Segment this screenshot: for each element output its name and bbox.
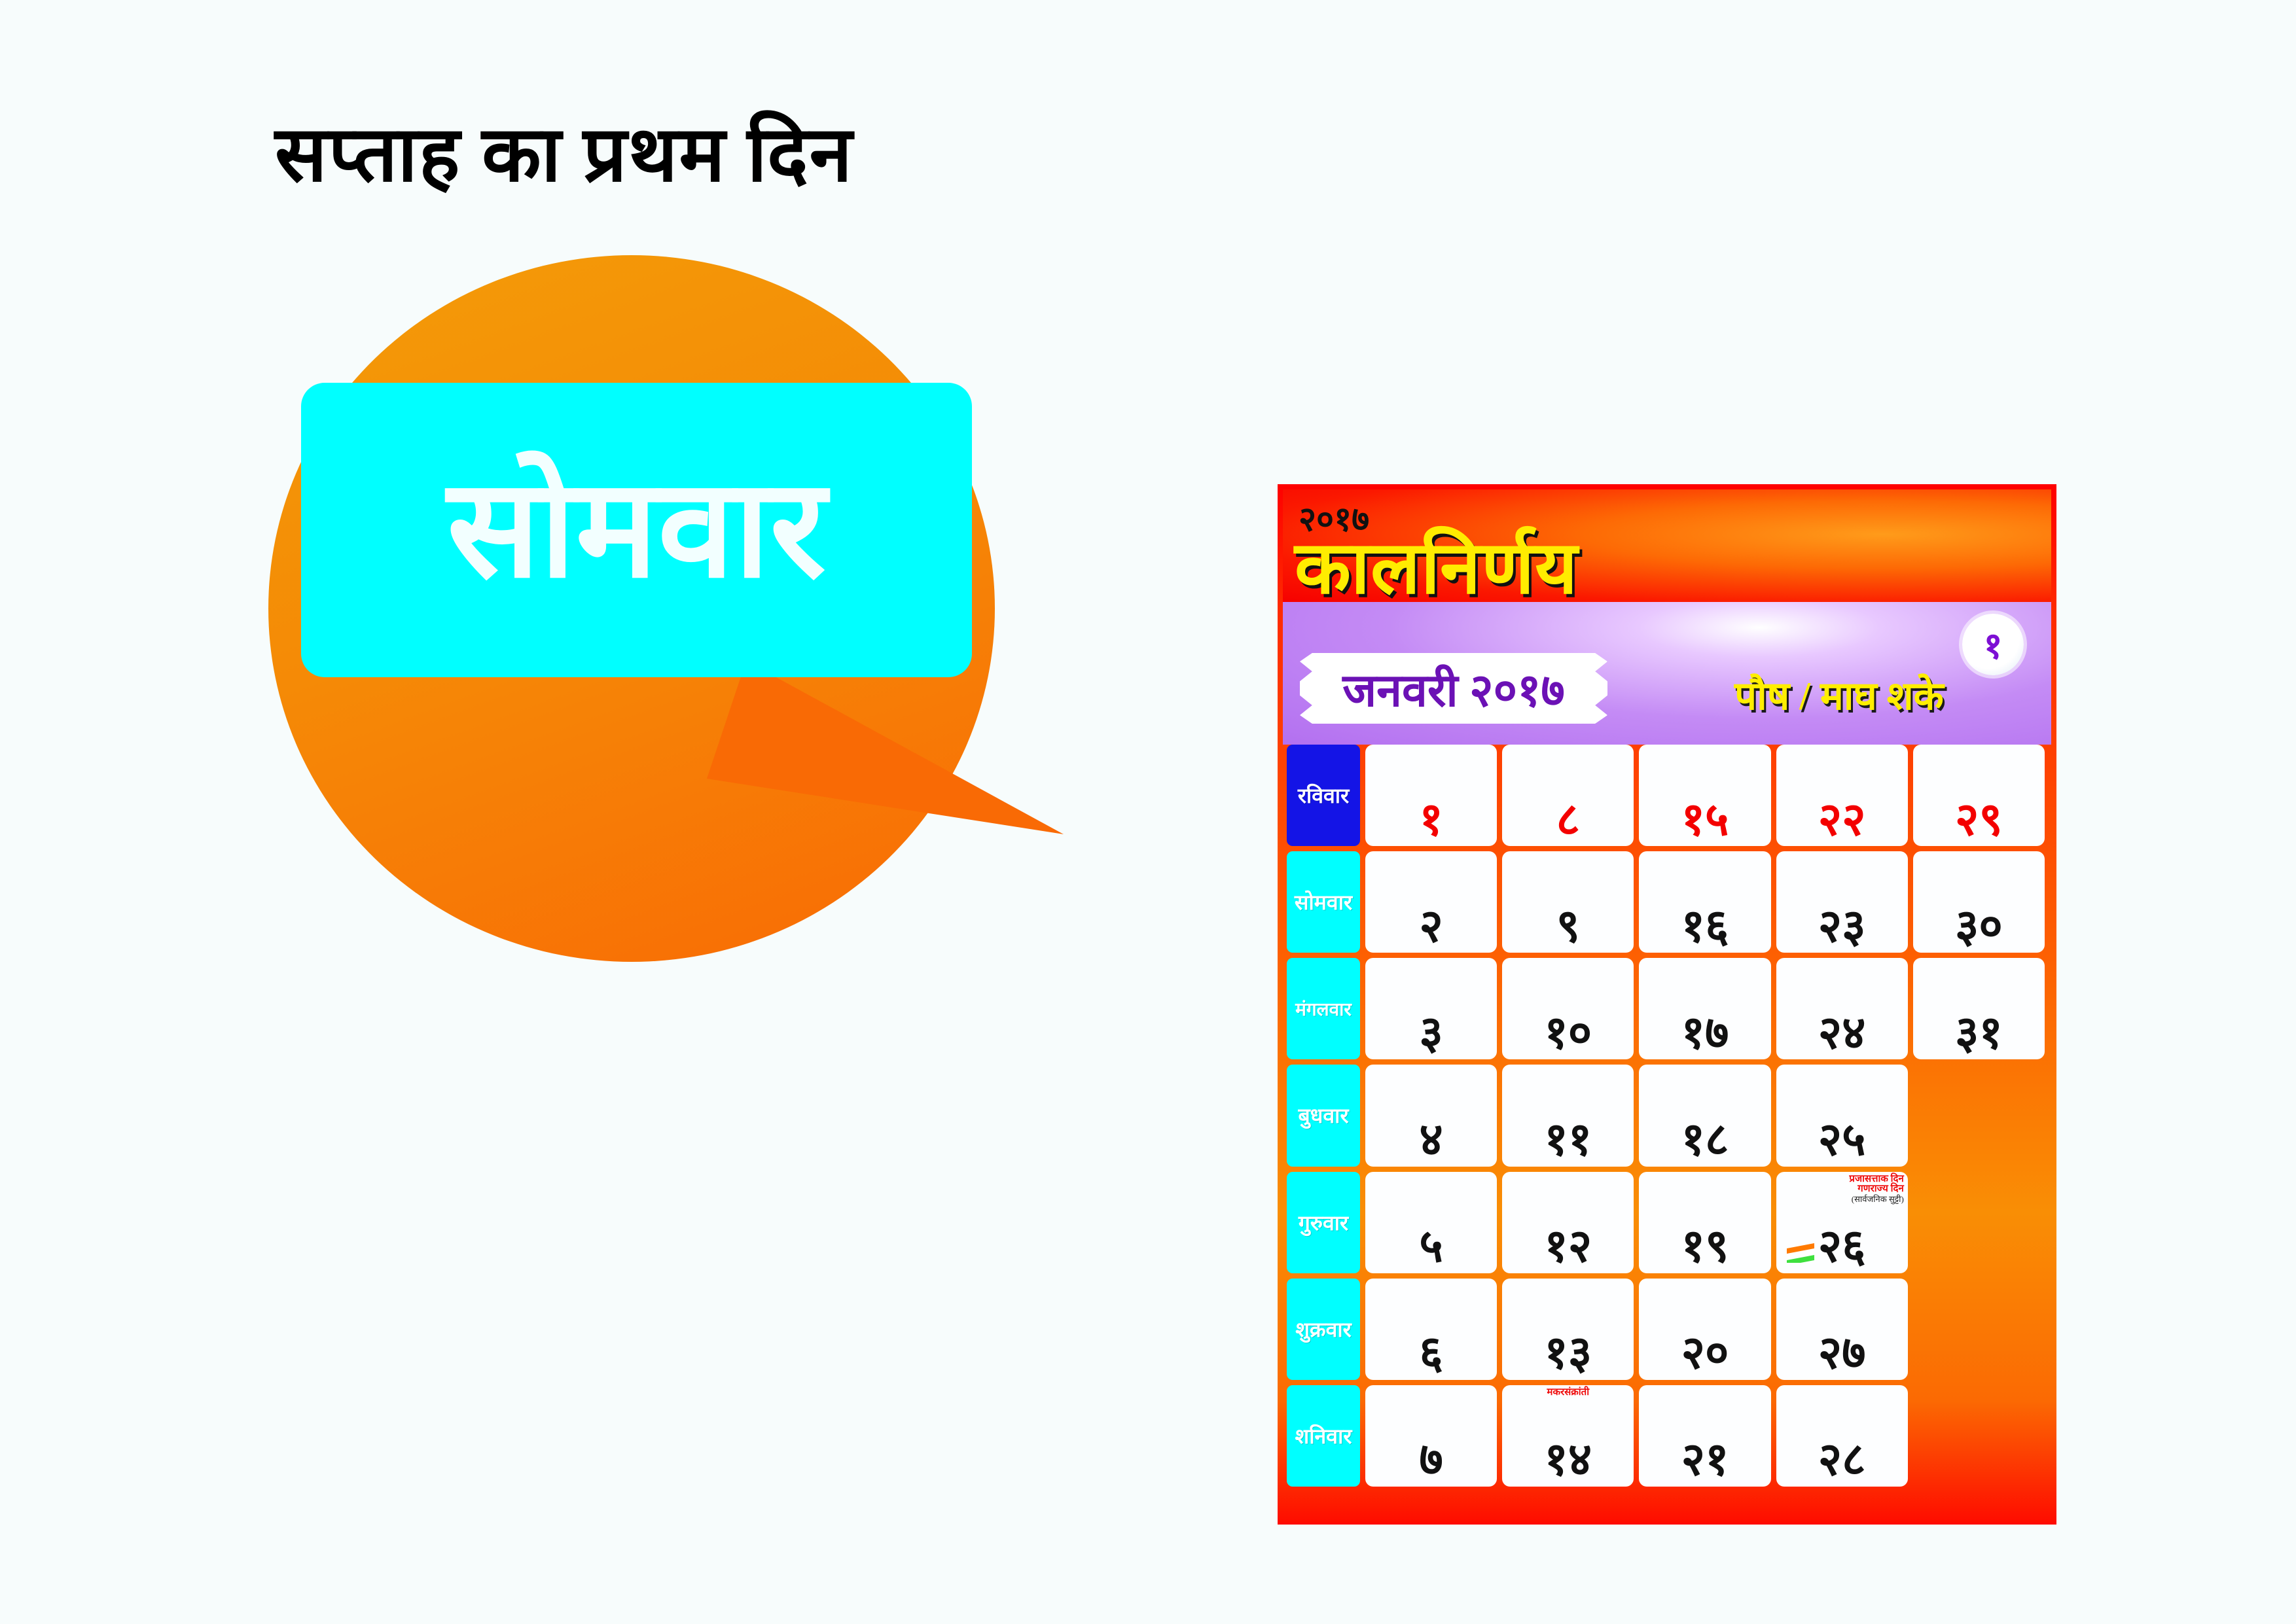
day-label-1: सोमवार — [1287, 851, 1360, 953]
date-cell[interactable]: १७ — [1639, 958, 1770, 1059]
date-cell[interactable]: २ — [1365, 851, 1497, 953]
indian-flag-icon — [1785, 1243, 1817, 1263]
date-cell[interactable]: प्रजासत्ताक दिनगणराज्य दिन(सार्वजनिक सुट… — [1776, 1172, 1908, 1273]
day-label-2: मंगलवार — [1287, 958, 1360, 1059]
date-number: १ — [1419, 799, 1443, 843]
date-cell[interactable]: ८ — [1502, 745, 1634, 846]
shake-era-label: पौष / माघ शके — [1734, 667, 1944, 721]
date-cell[interactable]: ३१ — [1913, 958, 2045, 1059]
date-number: २३ — [1818, 906, 1866, 949]
date-number: ८ — [1556, 799, 1580, 843]
date-note-line-2: गणराज्य दिन — [1780, 1184, 1904, 1195]
date-cell[interactable]: २२ — [1776, 745, 1908, 846]
day-label-6: शनिवार — [1287, 1385, 1360, 1487]
calendar-month-band: जनवरी २०१७ पौष / माघ शके १ — [1283, 602, 2051, 745]
date-cell[interactable]: १९ — [1639, 1172, 1770, 1273]
date-number: १८ — [1681, 1119, 1729, 1163]
date-number: २० — [1681, 1332, 1729, 1376]
date-note-line-1: मकरसंक्रांती — [1506, 1388, 1630, 1398]
calendar-header: २०१७ कालनिर्णय — [1283, 489, 2051, 602]
date-cell[interactable]: २९ — [1913, 745, 2045, 846]
callout-speech-bubble: सोमवार — [249, 242, 1067, 962]
date-cell[interactable]: ५ — [1365, 1172, 1497, 1273]
date-cell[interactable]: २५ — [1776, 1065, 1908, 1166]
date-cell[interactable]: ९ — [1502, 851, 1634, 953]
date-cell[interactable]: २४ — [1776, 958, 1908, 1059]
date-number: ७ — [1419, 1439, 1443, 1483]
date-number: २९ — [1955, 799, 2003, 843]
page-title: सप्ताह का प्रथम दिन — [275, 98, 853, 203]
day-label-0: रविवार — [1287, 745, 1360, 846]
date-cell[interactable]: ७ — [1365, 1385, 1497, 1487]
date-number: ३ — [1419, 1012, 1443, 1056]
date-number: २१ — [1681, 1439, 1729, 1483]
date-number: १६ — [1681, 906, 1729, 949]
kalnirnay-calendar-card: २०१७ कालनिर्णय जनवरी २०१७ पौष / माघ शके … — [1278, 484, 2056, 1525]
date-number: १५ — [1681, 799, 1729, 843]
date-number: २७ — [1818, 1332, 1866, 1376]
date-number: ३१ — [1955, 1012, 2003, 1056]
date-cell[interactable]: १ — [1365, 745, 1497, 846]
date-cell-empty — [1913, 1279, 2045, 1380]
date-cell-empty — [1913, 1385, 2045, 1487]
date-cell[interactable]: १५ — [1639, 745, 1770, 846]
date-note-line-1: प्रजासत्ताक दिन — [1780, 1174, 1904, 1185]
date-cell[interactable]: १३ — [1502, 1279, 1634, 1380]
calendar-grid: रविवार१८१५२२२९सोमवार२९१६२३३०मंगलवार३१०१७… — [1283, 745, 2051, 1487]
date-cell[interactable]: १२ — [1502, 1172, 1634, 1273]
date-cell[interactable]: १० — [1502, 958, 1634, 1059]
date-note-line-3: (सार्वजनिक सुट्टी) — [1780, 1195, 1904, 1204]
day-label-3: बुधवार — [1287, 1065, 1360, 1166]
date-cell[interactable]: ११ — [1502, 1065, 1634, 1166]
date-number: ५ — [1419, 1226, 1443, 1269]
callout-box: सोमवार — [301, 383, 972, 677]
date-cell[interactable]: ६ — [1365, 1279, 1497, 1380]
date-number: २६ — [1818, 1226, 1866, 1269]
date-number: ६ — [1419, 1332, 1443, 1376]
day-label-4: गुरुवार — [1287, 1172, 1360, 1273]
date-number: २८ — [1818, 1439, 1866, 1483]
date-number: १० — [1544, 1012, 1592, 1056]
date-cell[interactable]: १८ — [1639, 1065, 1770, 1166]
date-cell[interactable]: २७ — [1776, 1279, 1908, 1380]
date-number: ४ — [1419, 1119, 1443, 1163]
page-number-value: १ — [1983, 620, 2002, 669]
date-number: २२ — [1818, 799, 1866, 843]
date-number: २ — [1419, 906, 1443, 949]
date-cell[interactable]: ४ — [1365, 1065, 1497, 1166]
date-cell[interactable]: २३ — [1776, 851, 1908, 953]
date-number: १४ — [1544, 1439, 1592, 1483]
date-cell-empty — [1913, 1065, 2045, 1166]
date-cell-empty — [1913, 1172, 2045, 1273]
page-number-badge: १ — [1962, 614, 2024, 675]
calendar-brand-title: कालनिर्णय — [1295, 514, 1578, 614]
date-number: १७ — [1681, 1012, 1729, 1056]
date-cell[interactable]: २१ — [1639, 1385, 1770, 1487]
date-note: प्रजासत्ताक दिनगणराज्य दिन(सार्वजनिक सुट… — [1780, 1174, 1904, 1204]
callout-label: सोमवार — [447, 461, 826, 599]
date-number: ११ — [1544, 1119, 1592, 1163]
month-label: जनवरी २०१७ — [1342, 657, 1565, 720]
date-number: २५ — [1818, 1119, 1866, 1163]
date-cell[interactable]: ३ — [1365, 958, 1497, 1059]
date-note: मकरसंक्रांती — [1506, 1388, 1630, 1398]
date-cell[interactable]: २० — [1639, 1279, 1770, 1380]
date-cell[interactable]: ३० — [1913, 851, 2045, 953]
date-number: ९ — [1556, 906, 1580, 949]
date-cell[interactable]: २८ — [1776, 1385, 1908, 1487]
date-number: ३० — [1955, 906, 2003, 949]
date-cell[interactable]: १६ — [1639, 851, 1770, 953]
month-plate: जनवरी २०१७ — [1300, 653, 1607, 724]
day-label-5: शुक्रवार — [1287, 1279, 1360, 1380]
date-number: १३ — [1544, 1332, 1592, 1376]
date-number: १२ — [1544, 1226, 1592, 1269]
date-number: १९ — [1681, 1226, 1729, 1269]
date-number: २४ — [1818, 1012, 1866, 1056]
date-cell[interactable]: मकरसंक्रांती१४ — [1502, 1385, 1634, 1487]
